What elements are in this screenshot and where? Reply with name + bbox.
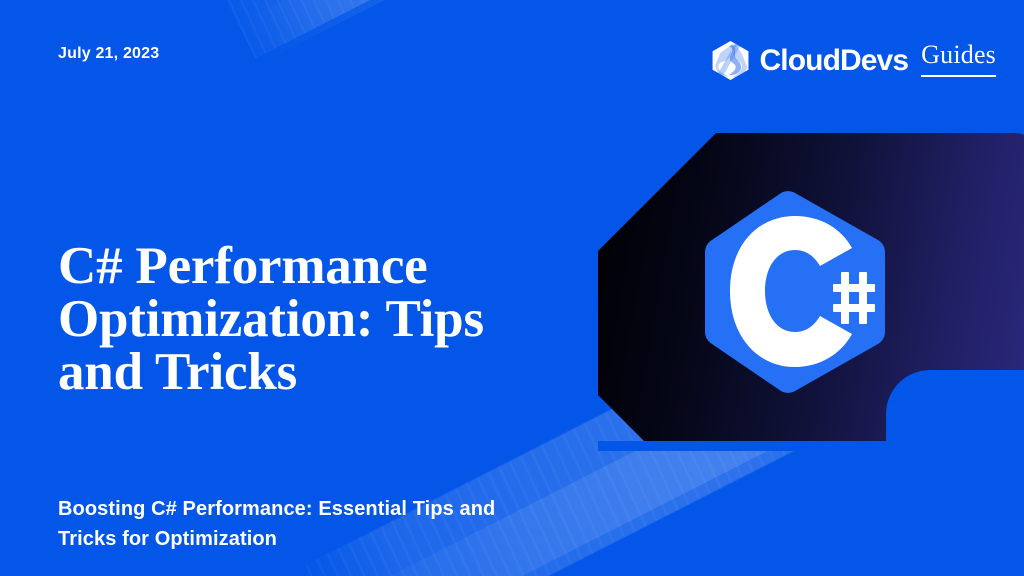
publish-date: July 21, 2023 — [58, 45, 159, 63]
brand-logo-lockup[interactable]: CloudDevs Guides — [710, 40, 996, 81]
brand-sub-underline — [921, 75, 996, 77]
brand-sub-name: Guides — [921, 42, 996, 68]
csharp-hexagon-logo — [700, 190, 890, 394]
brand-sub-lockup: Guides — [921, 42, 996, 79]
presentation-slide: July 21, 2023 Cloud — [0, 0, 1024, 576]
page-title: C# Performance Optimization: Tips and Tr… — [58, 240, 528, 399]
brand-name: CloudDevs — [760, 46, 909, 76]
hero-card-corner-notch — [886, 370, 1024, 446]
page-subtitle: Boosting C# Performance: Essential Tips … — [58, 494, 558, 554]
hero-card-bottom-edge — [598, 441, 928, 451]
clouddevs-swoosh-icon — [710, 40, 751, 81]
